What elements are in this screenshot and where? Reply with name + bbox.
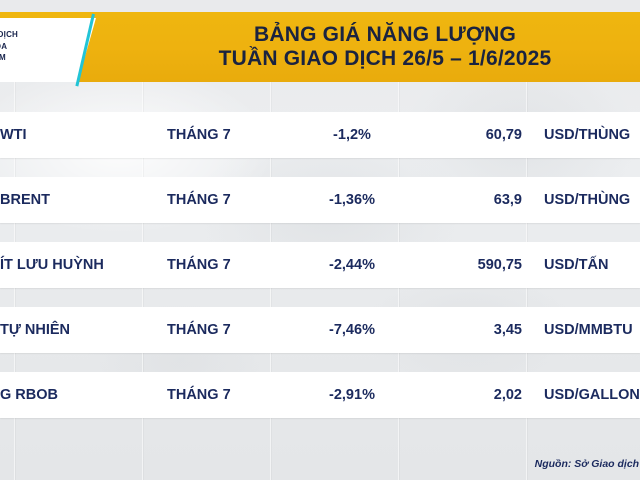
price-value: 2,02 (400, 372, 522, 418)
price-change: -1,36% (300, 177, 404, 223)
commodity-name: ÍT LƯU HUỲNH (0, 242, 170, 288)
price-value: 60,79 (400, 112, 522, 158)
logo-text-line-1: GIAO DỊCH (0, 29, 94, 41)
commodity-name: G RBOB (0, 372, 170, 418)
page-title: BẢNG GIÁ NĂNG LƯỢNG TUẦN GIAO DỊCH 26/5 … (150, 12, 620, 82)
price-value: 590,75 (400, 242, 522, 288)
logo-text: GIAO DỊCH NG HÓA ỆT NAM (0, 29, 94, 64)
table-row: ÍT LƯU HUỲNH THÁNG 7 -2,44% 590,75 USD/T… (0, 242, 640, 288)
contract-month: THÁNG 7 (167, 177, 287, 223)
contract-month: THÁNG 7 (167, 242, 287, 288)
table-row: G RBOB THÁNG 7 -2,91% 2,02 USD/GALLON (0, 372, 640, 418)
price-change: -2,91% (300, 372, 404, 418)
price-change: -7,46% (300, 307, 404, 353)
source-note-text: Nguồn: Sở Giao dịch Hàng hó (535, 458, 640, 470)
contract-month: THÁNG 7 (167, 372, 287, 418)
contract-month: THÁNG 7 (167, 112, 287, 158)
price-value: 3,45 (400, 307, 522, 353)
price-unit: USD/GALLON (544, 372, 640, 418)
price-change: -1,2% (300, 112, 404, 158)
price-unit: USD/THÙNG (544, 112, 640, 158)
table-row: TỰ NHIÊN THÁNG 7 -7,46% 3,45 USD/MMBTU (0, 307, 640, 353)
table-row: BRENT THÁNG 7 -1,36% 63,9 USD/THÙNG (0, 177, 640, 223)
title-line-2: TUẦN GIAO DỊCH 26/5 – 1/6/2025 (219, 47, 552, 71)
price-unit: USD/THÙNG (544, 177, 640, 223)
price-table: WTI THÁNG 7 -1,2% 60,79 USD/THÙNG BRENT … (0, 112, 640, 437)
price-unit: USD/TẤN (544, 242, 640, 288)
price-change: -2,44% (300, 242, 404, 288)
price-unit: USD/MMBTU (544, 307, 640, 353)
source-note: Nguồn: Sở Giao dịch Hàng hó (342, 458, 640, 470)
energy-price-table-infographic: BẢNG GIÁ NĂNG LƯỢNG TUẦN GIAO DỊCH 26/5 … (0, 0, 640, 480)
logo-text-line-2: NG HÓA (0, 41, 94, 53)
commodity-name: TỰ NHIÊN (0, 307, 170, 353)
commodity-name: BRENT (0, 177, 170, 223)
contract-month: THÁNG 7 (167, 307, 287, 353)
title-line-1: BẢNG GIÁ NĂNG LƯỢNG (254, 23, 516, 47)
commodity-name: WTI (0, 112, 170, 158)
price-value: 63,9 (400, 177, 522, 223)
table-row: WTI THÁNG 7 -1,2% 60,79 USD/THÙNG (0, 112, 640, 158)
